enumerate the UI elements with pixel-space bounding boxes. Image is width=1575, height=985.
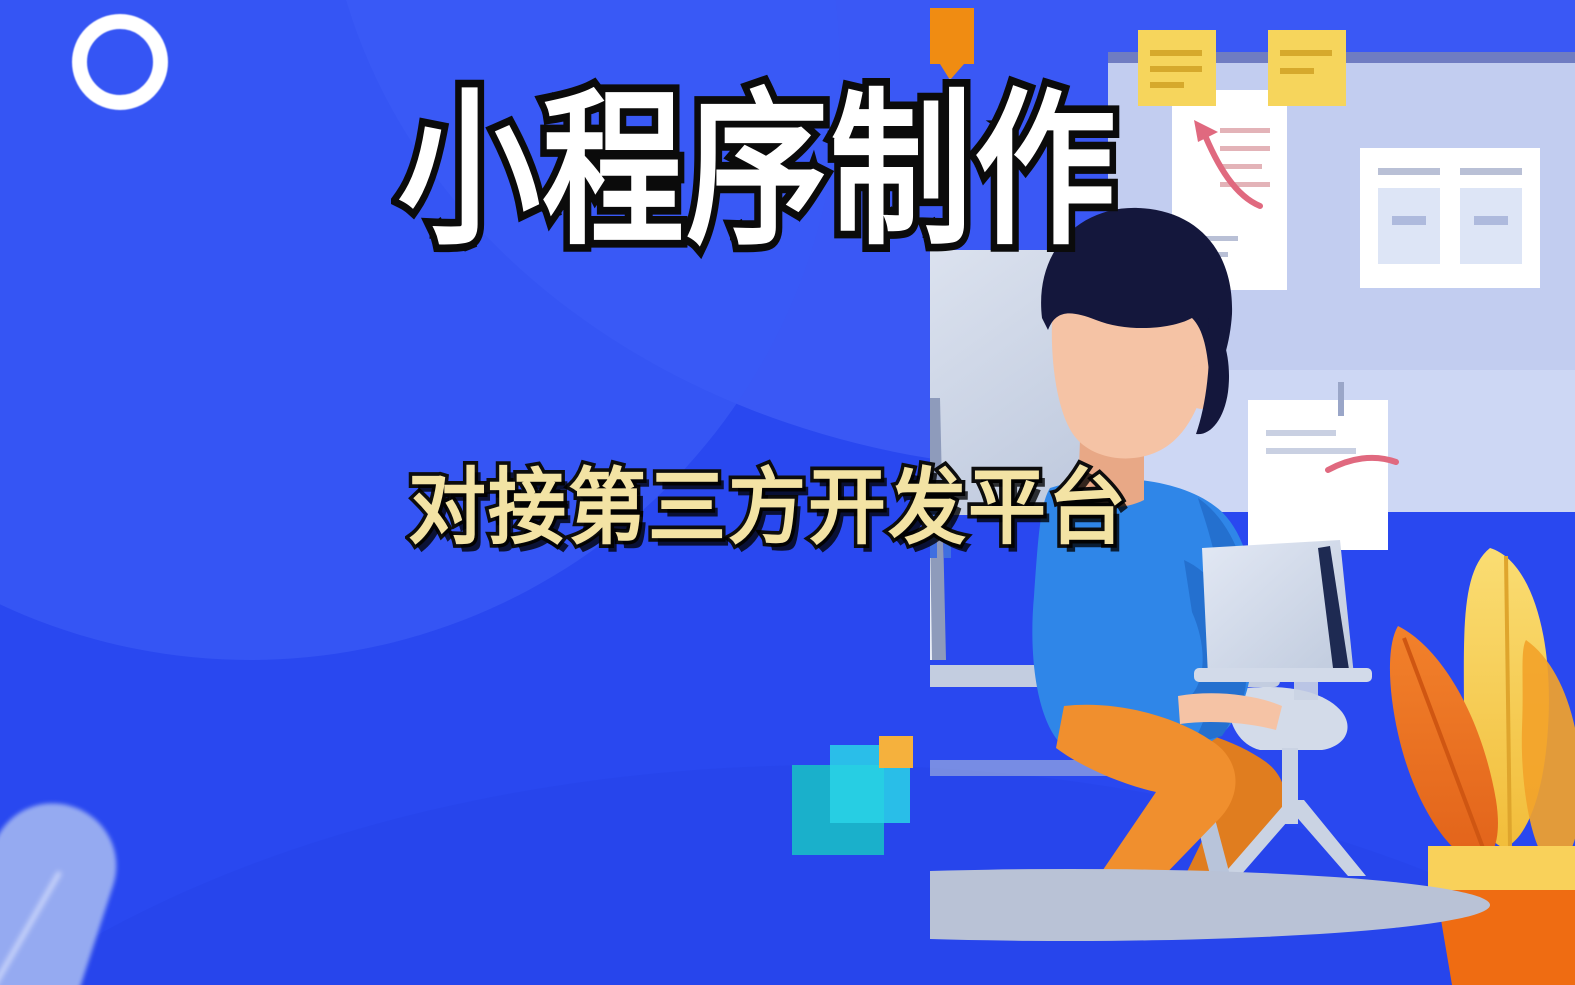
circle-ring-icon [72,14,168,110]
sticky-note-left [1138,30,1216,106]
laptop [1194,540,1372,682]
paper-lower [1248,382,1396,550]
page-title: 小程序制作 [398,88,1118,256]
square-decoration-orange [879,736,913,768]
leaf-vein-icon [0,870,62,985]
page-subtitle: 对接第三方开发平台 [408,466,1128,549]
poster-canvas: 小程序制作 对接第三方开发平台 [0,0,1575,985]
orange-speech-tag [930,8,974,80]
floor-shadow [930,869,1490,941]
paper-chart [1360,148,1540,288]
sticky-note-right [1268,30,1346,106]
